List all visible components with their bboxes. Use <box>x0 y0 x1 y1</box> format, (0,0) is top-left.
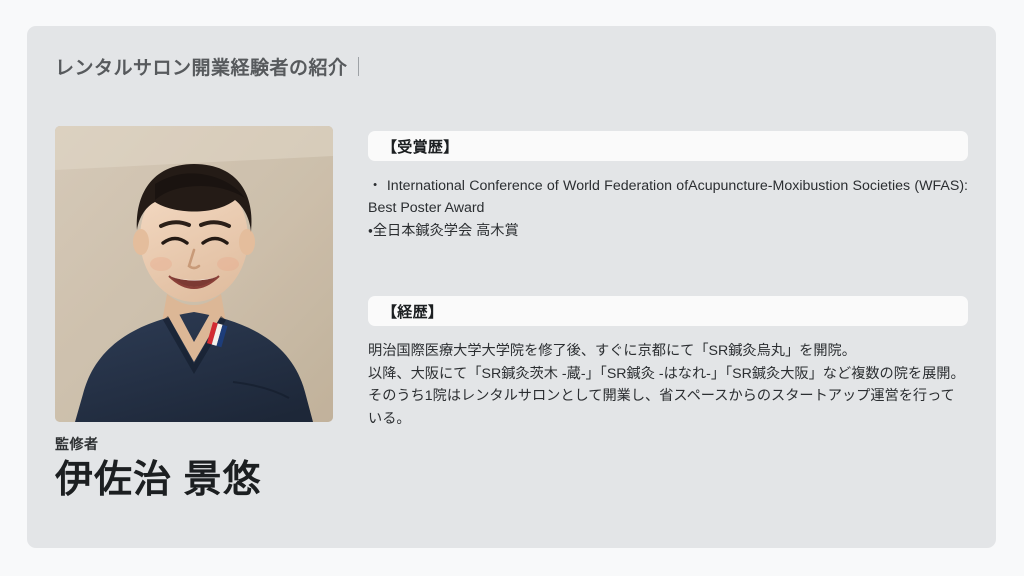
section-body-awards: ・ International Conference of World Fede… <box>368 175 968 242</box>
content-column: 【受賞歴】 ・ International Conference of Worl… <box>368 131 968 430</box>
page-title-text: レンタルサロン開業経験者の紹介 <box>55 53 348 80</box>
section-heading-career: 【経歴】 <box>368 296 968 326</box>
supervisor-portrait-photo <box>55 126 333 422</box>
slide-root: レンタルサロン開業経験者の紹介 <box>0 0 1024 576</box>
supervisor-name: 伊佐治 景悠 <box>55 461 333 501</box>
profile-column: 監修者 伊佐治 景悠 <box>55 126 333 501</box>
award-item: ・ International Conference of World Fede… <box>368 175 968 220</box>
portrait-illustration <box>55 126 333 422</box>
award-item: ・全日本鍼灸学会 高木賞 <box>368 220 968 242</box>
career-item: 以降、大阪にて「SR鍼灸茨木 -蔵-」「SR鍼灸 -はなれ-」「SR鍼灸大阪」な… <box>368 363 968 385</box>
career-item: そのうち1院はレンタルサロンとして開業し、省スペースからのスタートアップ運営を行… <box>368 385 968 430</box>
title-divider-bar <box>358 57 359 76</box>
section-heading-awards-text: 【受賞歴】 <box>382 136 459 157</box>
supervisor-label: 監修者 <box>55 434 333 454</box>
section-spacer <box>368 242 968 296</box>
career-item: 明治国際医療大学大学院を修了後、すぐに京都にて「SR鍼灸烏丸」を開院。 <box>368 340 968 362</box>
section-body-career: 明治国際医療大学大学院を修了後、すぐに京都にて「SR鍼灸烏丸」を開院。 以降、大… <box>368 340 968 430</box>
page-title: レンタルサロン開業経験者の紹介 <box>55 53 359 80</box>
section-heading-career-text: 【経歴】 <box>382 301 443 322</box>
section-heading-awards: 【受賞歴】 <box>368 131 968 161</box>
